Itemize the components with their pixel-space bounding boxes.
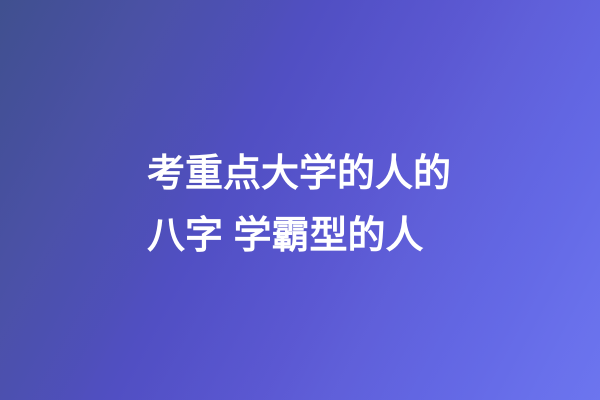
- title-line-2: 八字 学霸型的人: [147, 205, 477, 267]
- title-line-1: 考重点大学的人的: [147, 143, 477, 205]
- page-title: 考重点大学的人的 八字 学霸型的人: [147, 143, 477, 267]
- title-card-canvas: 考重点大学的人的 八字 学霸型的人: [0, 0, 600, 400]
